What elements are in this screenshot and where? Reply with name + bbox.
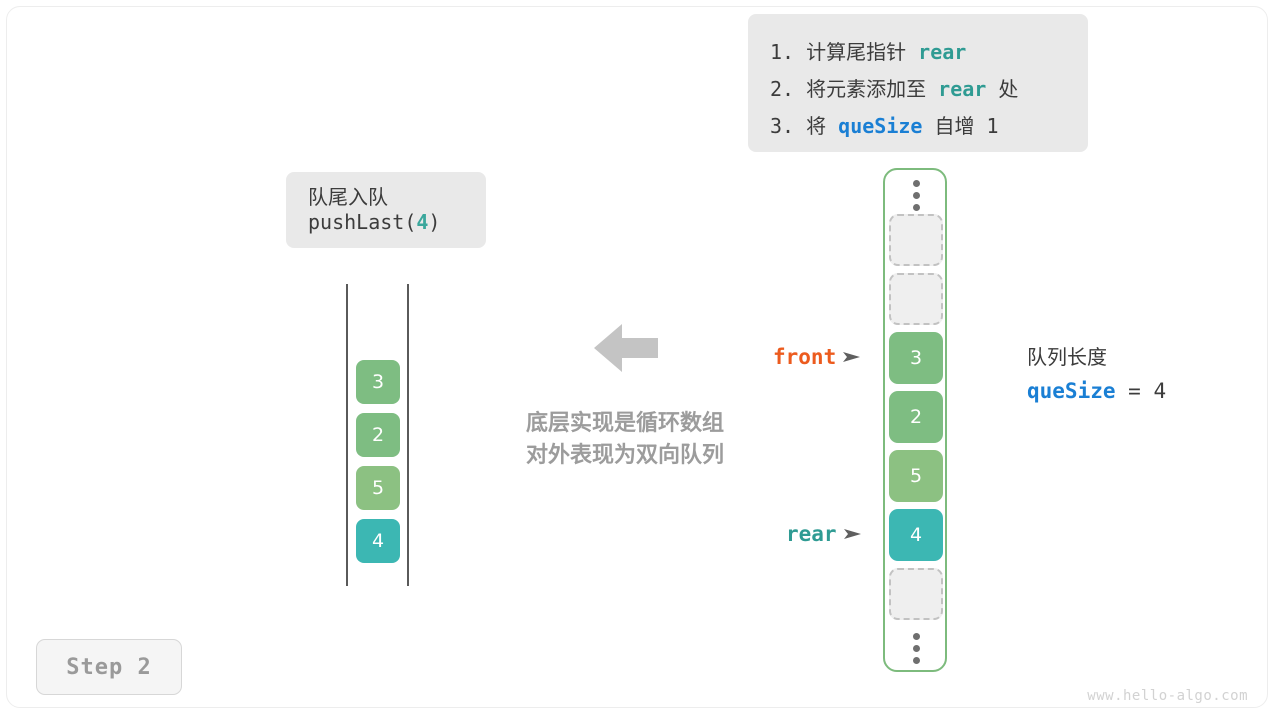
pointer-arrow-icon [843,350,860,364]
operation-box: 队尾入队 pushLast(4) [286,172,486,248]
instruction-line-3-keyword: queSize [838,114,922,138]
ellipsis-top-icon [909,180,923,211]
queue-size-title: 队列长度 [1027,340,1166,374]
array-slot-filled: 3 [889,332,943,384]
deque-cell: 3 [356,360,400,404]
instruction-line-2-suffix: 处 [986,77,1018,101]
rear-pointer-label: rear [786,522,837,546]
instruction-box: 1. 计算尾指针 rear 2. 将元素添加至 rear 处 3. 将 queS… [748,14,1088,152]
array-slot-filled: 5 [889,450,943,502]
array-slot-empty [889,568,943,620]
step-badge-label: Step 2 [66,655,151,680]
instruction-line-2: 2. 将元素添加至 rear 处 [770,71,1066,108]
deque-representation: 3 2 5 4 [340,284,420,586]
instruction-line-1-prefix: 1. 计算尾指针 [770,40,918,64]
operation-call: pushLast(4) [308,210,486,235]
front-pointer: front [773,345,860,369]
deque-rail-right [407,284,409,586]
center-caption-line-2: 对外表现为双向队列 [470,440,780,472]
center-caption-line-1: 底层实现是循环数组 [470,408,780,440]
instruction-line-3: 3. 将 queSize 自增 1 [770,108,1066,145]
operation-call-prefix: pushLast( [308,210,416,234]
instruction-line-2-keyword: rear [938,77,986,101]
center-caption: 底层实现是循环数组 对外表现为双向队列 [470,408,780,472]
left-arrow-icon [594,322,658,374]
deque-rail-left [346,284,348,586]
instruction-line-3-suffix: 自增 1 [922,114,998,138]
rear-pointer: rear [786,522,861,546]
deque-cell-highlighted: 4 [356,519,400,563]
instruction-line-1: 1. 计算尾指针 rear [770,34,1066,71]
pointer-arrow-icon [844,527,861,541]
ellipsis-bottom-icon [909,633,923,664]
operation-call-suffix: ) [428,210,440,234]
deque-cell: 2 [356,413,400,457]
array-slot-empty [889,214,943,266]
queue-size-equals: = [1116,379,1154,403]
watermark: www.hello-algo.com [1087,688,1248,704]
instruction-line-1-keyword: rear [918,40,966,64]
deque-cell: 5 [356,466,400,510]
instruction-line-2-prefix: 2. 将元素添加至 [770,77,938,101]
queue-size-note: 队列长度 queSize = 4 [1027,340,1166,408]
array-slot-filled: 2 [889,391,943,443]
queue-size-variable: queSize [1027,379,1116,403]
diagram-canvas: 1. 计算尾指针 rear 2. 将元素添加至 rear 处 3. 将 queS… [0,0,1280,720]
queue-size-expression: queSize = 4 [1027,374,1166,408]
array-slot-empty [889,273,943,325]
queue-size-value: 4 [1153,379,1166,403]
operation-title: 队尾入队 [308,185,486,210]
operation-call-value: 4 [416,210,428,234]
front-pointer-label: front [773,345,836,369]
step-badge: Step 2 [36,639,182,695]
instruction-line-3-prefix: 3. 将 [770,114,838,138]
array-slot-highlighted: 4 [889,509,943,561]
